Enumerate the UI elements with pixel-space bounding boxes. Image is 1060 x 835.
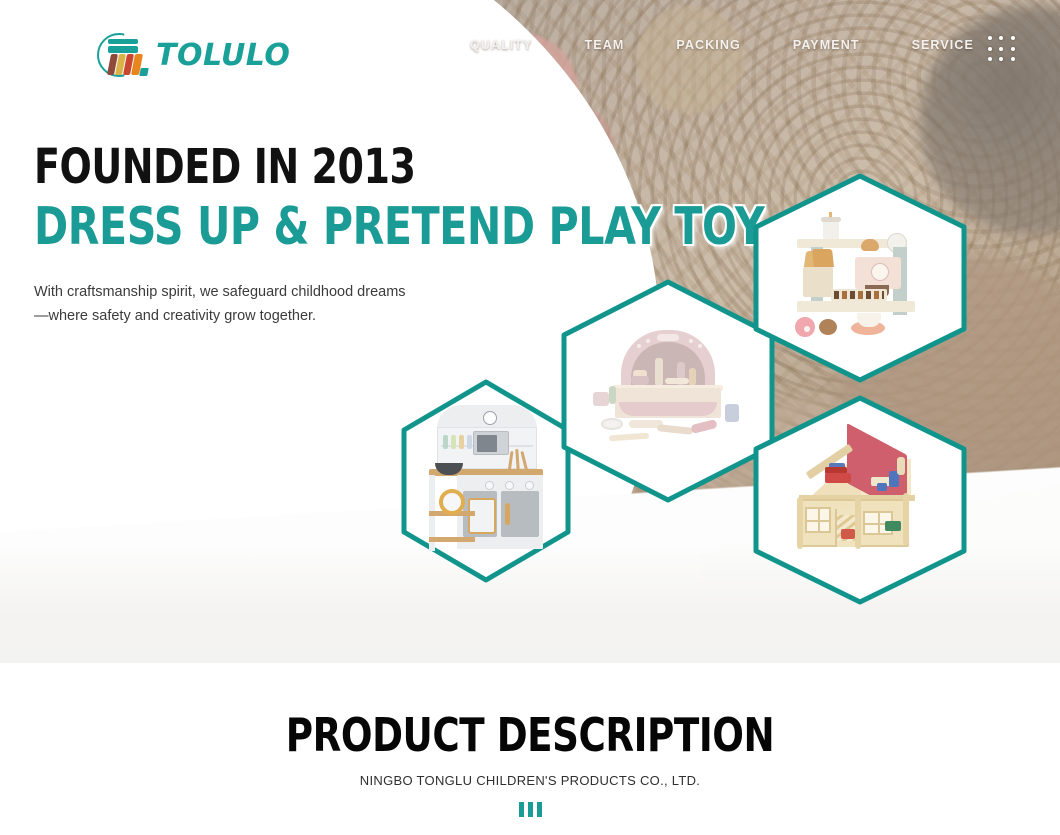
nav-item-payment[interactable]: PAYMENT (793, 38, 860, 52)
product-image-wooden-toy-kitchen (412, 392, 560, 570)
product-description-section: PRODUCT DESCRIPTION NINGBO TONGLU CHILDR… (0, 663, 1060, 835)
section-divider-bars (511, 802, 549, 817)
nav-item-packing[interactable]: PACKING (676, 38, 740, 52)
brand-name: TOLULO (156, 38, 290, 73)
product-hex-pink-toy-vanity-set[interactable] (556, 278, 780, 504)
hero-headline-primary: FOUNDED IN 2013 (34, 140, 668, 194)
tolulo-logo-icon (96, 32, 150, 78)
nav-item-team[interactable]: TEAM (585, 38, 625, 52)
grid-menu-icon[interactable] (988, 36, 1018, 64)
hero-headline-secondary: DRESS UP & PRETEND PLAY TOY (34, 196, 668, 258)
divider-bar (528, 802, 533, 817)
product-image-wooden-toy-coffee-bar (762, 186, 958, 370)
divider-bar (519, 802, 524, 817)
page-root: FOUNDED IN 2013 DRESS UP & PRETEND PLAY … (0, 0, 1060, 835)
nav-item-service[interactable]: SERVICE (912, 38, 974, 52)
site-header: TOLULO QUALITY TEAM PACKING PAYMENT SERV… (0, 0, 1060, 100)
product-hex-wooden-toy-coffee-bar[interactable] (748, 172, 972, 384)
product-description-subtitle: NINGBO TONGLU CHILDREN'S PRODUCTS CO., L… (0, 773, 1060, 788)
brand-logo[interactable]: TOLULO (96, 32, 290, 78)
product-hex-wooden-dollhouse[interactable] (748, 394, 972, 606)
nav-item-quality[interactable]: QUALITY (470, 38, 533, 52)
hero-subtext: With craftsmanship spirit, we safeguard … (34, 280, 414, 328)
product-image-wooden-dollhouse (762, 408, 958, 592)
divider-bar (537, 802, 542, 817)
product-image-pink-toy-vanity-set (570, 292, 766, 490)
main-navigation: QUALITY TEAM PACKING PAYMENT SERVICE (470, 38, 974, 52)
product-description-title: PRODUCT DESCRIPTION (53, 711, 1007, 759)
product-hex-wooden-toy-kitchen[interactable] (398, 378, 574, 584)
